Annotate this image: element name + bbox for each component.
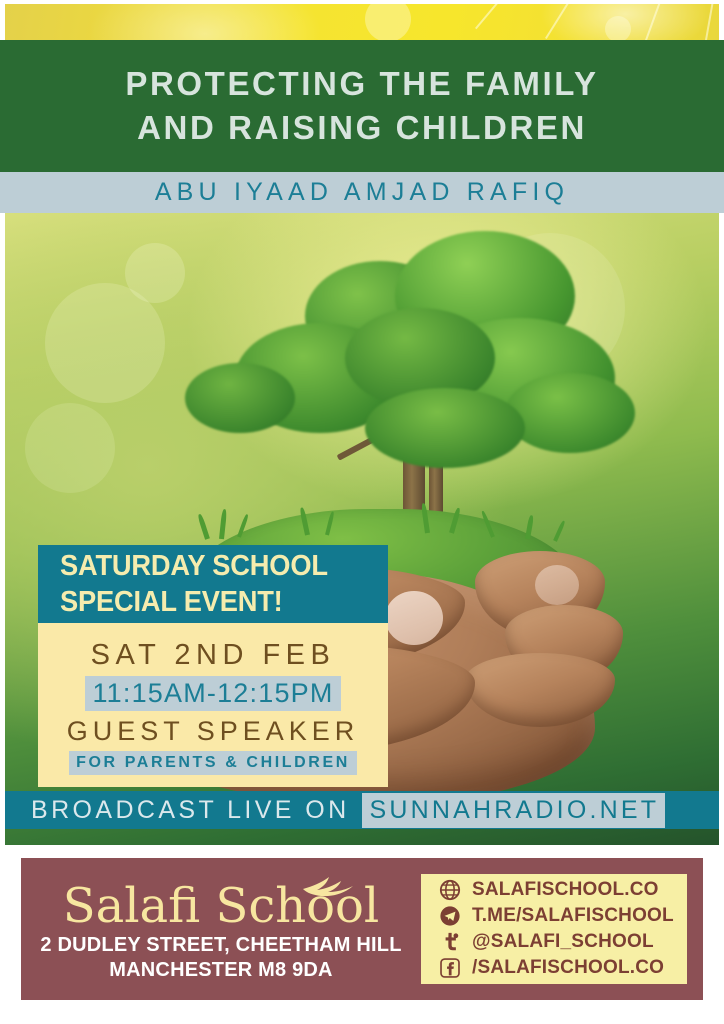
event-details-box: SAT 2ND FEB 11:15AM-12:15PM GUEST SPEAKE… — [38, 623, 388, 787]
sun-flare-ray — [475, 4, 534, 29]
poster-title-line-1: PROTECTING THE FAMILY — [125, 62, 598, 106]
grass-blade — [197, 514, 210, 540]
grass-blade — [553, 520, 566, 542]
telegram-icon — [439, 905, 461, 927]
event-time: 11:15AM-12:15PM — [85, 676, 340, 711]
brand-address-line-2: MANCHESTER M8 9DA — [109, 958, 332, 983]
broadcast-bar: BROADCAST LIVE ON SUNNAHRADIO.NET — [5, 791, 719, 829]
facebook-icon — [439, 957, 461, 979]
contact-telegram-text: T.ME/SALAFISCHOOL — [472, 905, 674, 927]
contact-row-website[interactable]: SALAFISCHOOL.CO — [439, 878, 687, 903]
contact-facebook-text: /SALAFISCHOOL.CO — [472, 957, 664, 979]
contact-row-telegram[interactable]: T.ME/SALAFISCHOOL — [439, 904, 687, 929]
tree-canopy — [185, 363, 295, 433]
tree-canopy — [505, 373, 635, 453]
bokeh-dot — [365, 4, 411, 40]
event-date: SAT 2ND FEB — [91, 636, 336, 674]
contact-card: SALAFISCHOOL.CO T.ME/SALAFISCHOOL @SALAF… — [421, 874, 687, 984]
fingernail — [385, 591, 443, 645]
contact-twitter-text: @SALAFI_SCHOOL — [472, 931, 654, 953]
contact-website-text: SALAFISCHOOL.CO — [472, 879, 659, 901]
event-role: GUEST SPEAKER — [67, 713, 360, 749]
title-band: PROTECTING THE FAMILY AND RAISING CHILDR… — [0, 40, 724, 172]
footer-bar: Salafi School 2 DUDLEY STREET, CHEETHAM … — [21, 858, 703, 1000]
speaker-name: ABU IYAAD AMJAD RAFIQ — [155, 178, 569, 207]
brand-block: Salafi School 2 DUDLEY STREET, CHEETHAM … — [21, 858, 421, 1000]
globe-icon — [439, 879, 461, 901]
special-event-line-1: SATURDAY SCHOOL — [60, 548, 368, 584]
broadcast-label: BROADCAST LIVE ON — [31, 796, 350, 825]
poster-title-line-2: AND RAISING CHILDREN — [137, 106, 587, 150]
brand-address-line-1: 2 DUDLEY STREET, CHEETHAM HILL — [40, 933, 401, 958]
broadcast-url[interactable]: SUNNAHRADIO.NET — [362, 793, 666, 828]
contact-row-facebook[interactable]: /SALAFISCHOOL.CO — [439, 956, 687, 981]
twitter-icon — [439, 931, 461, 953]
event-audience: FOR PARENTS & CHILDREN — [69, 751, 357, 775]
grass-blade — [219, 509, 227, 539]
event-poster: PROTECTING THE FAMILY AND RAISING CHILDR… — [0, 0, 724, 1024]
sun-flare-ray — [645, 4, 698, 40]
bokeh-dot — [605, 16, 631, 40]
contact-row-twitter[interactable]: @SALAFI_SCHOOL — [439, 930, 687, 955]
brand-logo-text: Salafi School — [63, 879, 380, 933]
special-event-line-2: SPECIAL EVENT! — [60, 584, 368, 620]
speaker-band: ABU IYAAD AMJAD RAFIQ — [0, 172, 724, 213]
bokeh-circle — [125, 243, 185, 303]
bokeh-circle — [25, 403, 115, 493]
tree-canopy — [365, 388, 525, 468]
sun-flare-ray — [705, 4, 719, 40]
fingernail — [535, 565, 579, 605]
top-sun-strip — [5, 4, 719, 40]
bird-icon — [301, 873, 355, 899]
special-event-box: SATURDAY SCHOOL SPECIAL EVENT! — [38, 545, 388, 623]
